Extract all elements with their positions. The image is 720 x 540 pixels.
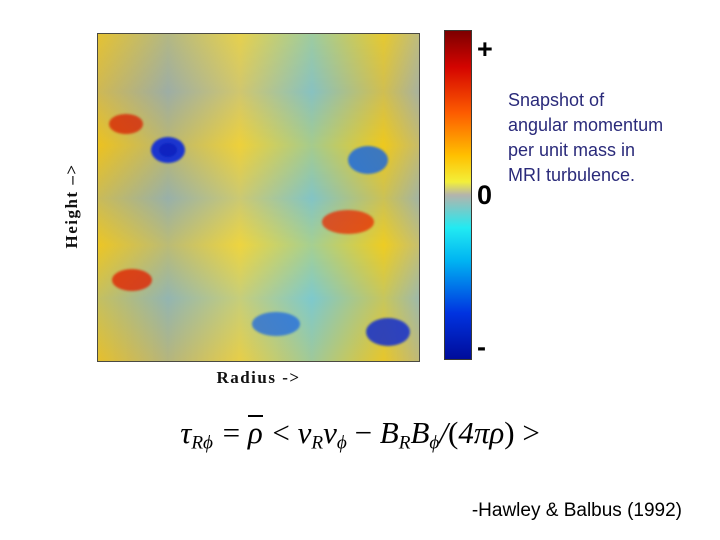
equation-v-radial: v bbox=[298, 415, 312, 450]
turbulence-figure-panel bbox=[97, 33, 420, 362]
caption-line-4: MRI turbulence. bbox=[508, 163, 720, 188]
source-citation: -Hawley & Balbus (1992) bbox=[0, 500, 682, 522]
equation-four: 4 bbox=[458, 415, 474, 450]
caption-line-2: angular momentum bbox=[508, 113, 720, 138]
equation-v-phi: v bbox=[323, 415, 337, 450]
figure-caption: Snapshot of angular momentum per unit ma… bbox=[508, 88, 720, 188]
colorbar-gradient-strip bbox=[444, 30, 472, 360]
equation-b-radial: B bbox=[380, 415, 399, 450]
caption-line-1: Snapshot of bbox=[508, 88, 720, 113]
equation-rparen: ) bbox=[504, 415, 514, 450]
axis-label-height: Height –> bbox=[62, 116, 82, 296]
colorbar-label-positive: + bbox=[477, 36, 493, 63]
equation-minus: − bbox=[355, 415, 372, 450]
turbulence-field-image bbox=[97, 33, 420, 362]
equation-b-phi-subscript: ϕ bbox=[429, 432, 439, 453]
axis-label-radius: Radius -> bbox=[97, 368, 420, 388]
colorbar-label-zero: 0 bbox=[477, 182, 492, 209]
equation-tau-subscript: Rϕ bbox=[191, 432, 213, 453]
colorbar: + 0 - bbox=[444, 30, 514, 360]
equation-v-radial-subscript: R bbox=[311, 432, 323, 453]
equation-lparen: ( bbox=[448, 415, 458, 450]
equation-equals: = bbox=[223, 415, 240, 450]
equation-b-phi: B bbox=[410, 415, 429, 450]
equation-rangle: > bbox=[522, 415, 539, 450]
equation-slash: / bbox=[439, 415, 448, 450]
equation-tau: τ bbox=[180, 415, 191, 450]
equation-b-radial-subscript: R bbox=[399, 432, 411, 453]
caption-line-3: per unit mass in bbox=[508, 138, 720, 163]
equation-v-phi-subscript: ϕ bbox=[337, 432, 347, 453]
equation-rho: ρ bbox=[489, 415, 504, 450]
colorbar-label-negative: - bbox=[477, 334, 486, 361]
equation-rho-bar: ρ bbox=[248, 415, 263, 448]
equation-pi: π bbox=[474, 415, 490, 450]
stress-tensor-equation: τRϕ = ρ < vRvϕ − BRBϕ/(4πρ) > bbox=[0, 415, 720, 454]
equation-langle: < bbox=[272, 415, 289, 450]
